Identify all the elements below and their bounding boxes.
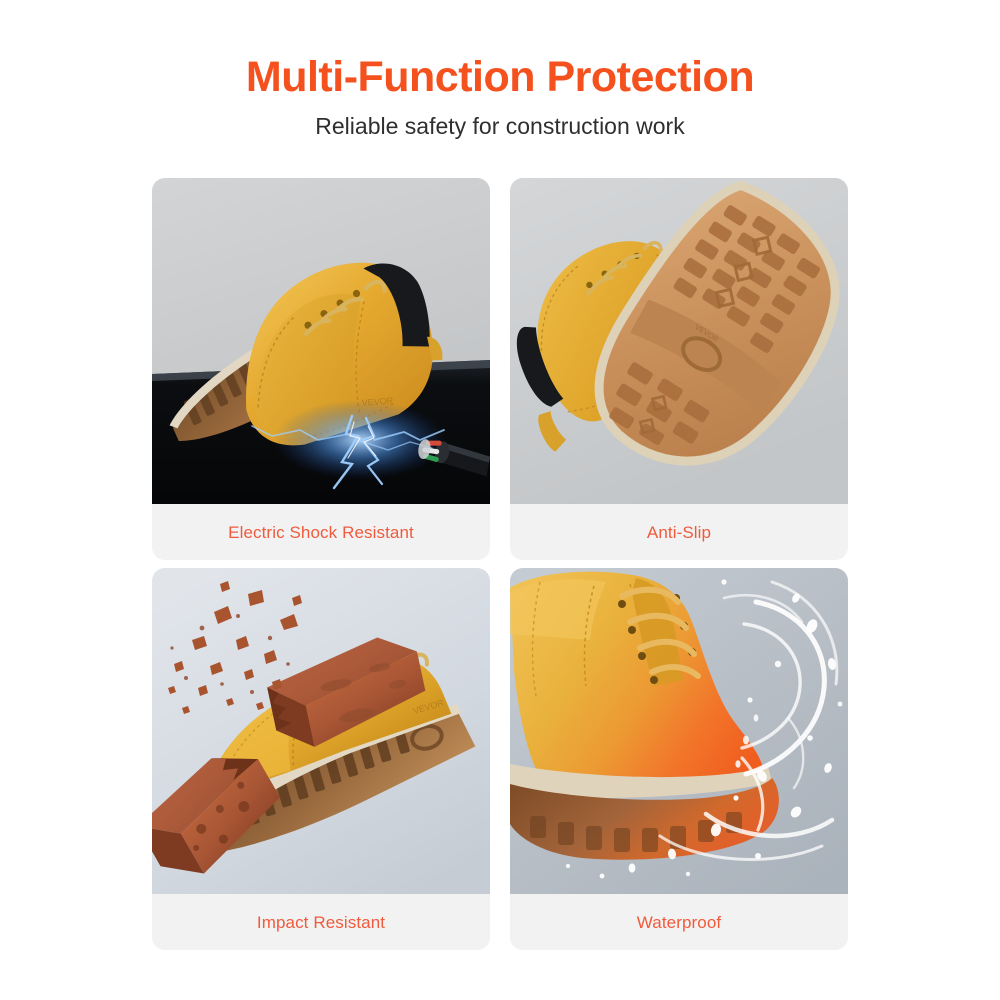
card-caption: Electric Shock Resistant <box>152 504 490 560</box>
feature-card-grid: VEVOR <box>152 178 848 950</box>
feature-card-impact-resistant[interactable]: VEVOR <box>152 568 490 950</box>
feature-card-electric-shock-resistant[interactable]: VEVOR <box>152 178 490 560</box>
boot-with-water-splash-photo <box>510 568 848 894</box>
page-header: Multi-Function Protection Reliable safet… <box>0 54 1000 140</box>
boot-outsole-tread-photo: VEVOR <box>510 178 848 504</box>
feature-card-waterproof[interactable]: Waterproof <box>510 568 848 950</box>
product-feature-page: Multi-Function Protection Reliable safet… <box>0 0 1000 1000</box>
card-caption: Impact Resistant <box>152 894 490 950</box>
card-caption: Waterproof <box>510 894 848 950</box>
page-subtitle: Reliable safety for construction work <box>0 114 1000 139</box>
boot-on-live-cable-photo: VEVOR <box>152 178 490 504</box>
card-caption: Anti-Slip <box>510 504 848 560</box>
boot-with-shattering-bricks-photo: VEVOR <box>152 568 490 894</box>
feature-card-anti-slip[interactable]: VEVOR <box>510 178 848 560</box>
page-title: Multi-Function Protection <box>0 54 1000 100</box>
